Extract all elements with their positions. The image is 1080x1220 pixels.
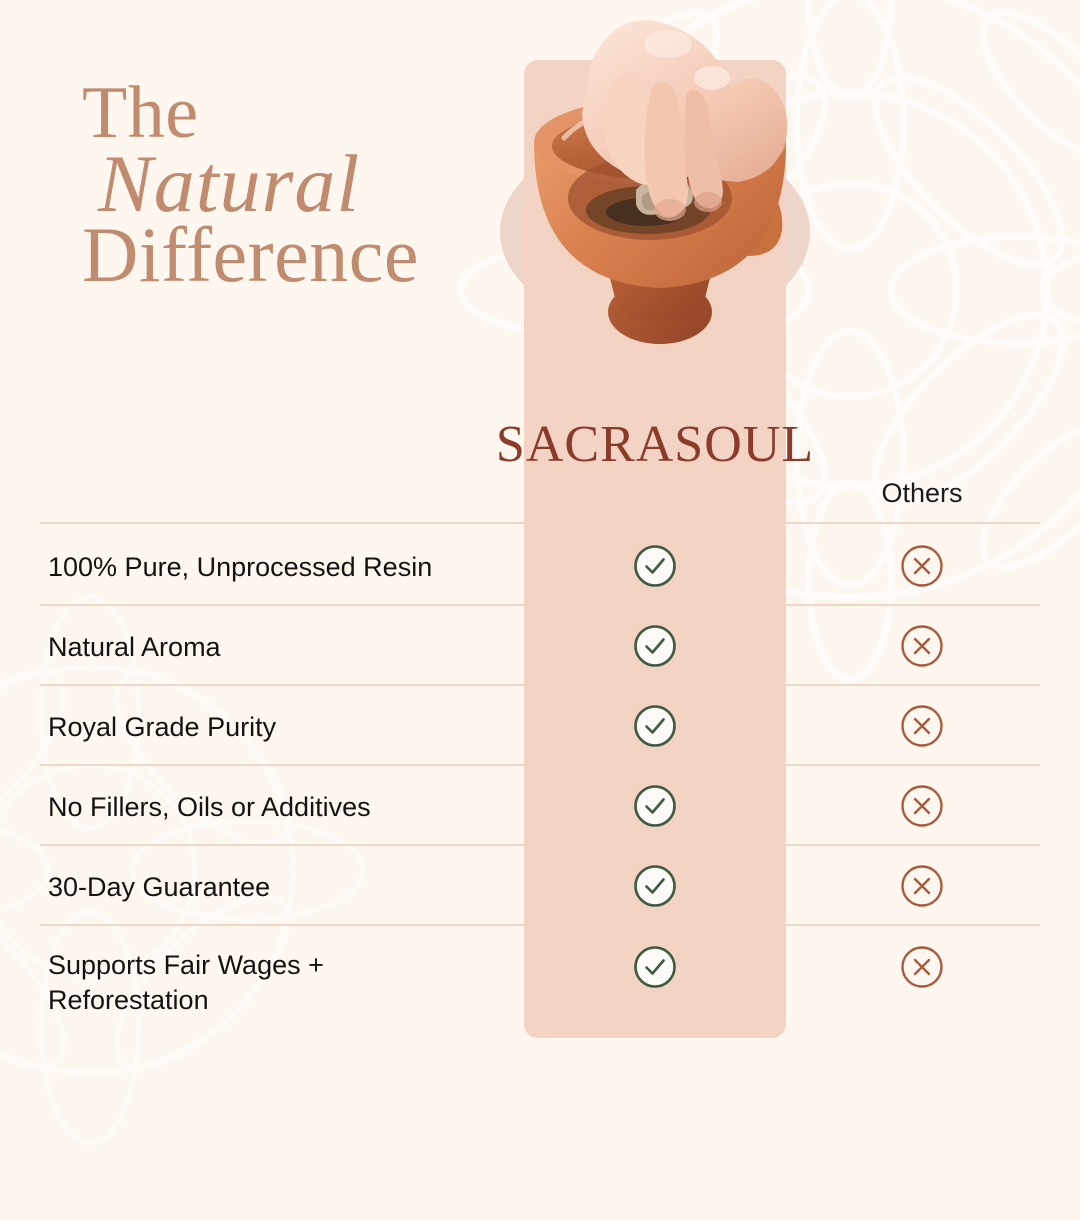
cross-circle-icon bbox=[899, 703, 945, 749]
column-header-others: Others bbox=[822, 478, 1022, 509]
check-circle-icon bbox=[632, 543, 678, 589]
check-circle-icon bbox=[632, 863, 678, 909]
table-row: Natural Aroma bbox=[0, 606, 1080, 686]
column-divider-mask bbox=[524, 844, 786, 847]
cross-circle-icon bbox=[899, 783, 945, 829]
table-row: No Fillers, Oils or Additives bbox=[0, 766, 1080, 846]
column-divider-mask bbox=[524, 604, 786, 607]
cross-circle-icon bbox=[899, 623, 945, 669]
check-circle-icon bbox=[632, 944, 678, 990]
feature-label: Supports Fair Wages + Reforestation bbox=[48, 948, 408, 1018]
check-circle-icon bbox=[632, 783, 678, 829]
table-row: Royal Grade Purity bbox=[0, 686, 1080, 766]
feature-label: Natural Aroma bbox=[48, 630, 498, 666]
check-circle-icon bbox=[632, 623, 678, 669]
column-divider-mask bbox=[524, 764, 786, 767]
column-divider-mask bbox=[524, 684, 786, 687]
feature-label: Royal Grade Purity bbox=[48, 710, 498, 746]
cross-circle-icon bbox=[899, 944, 945, 990]
feature-label: 30-Day Guarantee bbox=[48, 870, 498, 906]
brand-logo: SACRASOUL bbox=[460, 415, 850, 474]
feature-label: No Fillers, Oils or Additives bbox=[48, 790, 498, 826]
page-title: The Natural Difference bbox=[82, 78, 502, 293]
table-row: Supports Fair Wages + Reforestation bbox=[0, 926, 1080, 1036]
check-circle-icon bbox=[632, 703, 678, 749]
feature-label: 100% Pure, Unprocessed Resin bbox=[48, 550, 498, 586]
column-divider-mask bbox=[524, 924, 786, 927]
cross-circle-icon bbox=[899, 863, 945, 909]
table-row: 100% Pure, Unprocessed Resin bbox=[0, 524, 1080, 604]
cross-circle-icon bbox=[899, 543, 945, 589]
table-row: 30-Day Guarantee bbox=[0, 846, 1080, 926]
hand-grinding-resin-in-terracotta-bowl-icon bbox=[500, 20, 820, 380]
headline-line-3: Difference bbox=[82, 218, 502, 293]
